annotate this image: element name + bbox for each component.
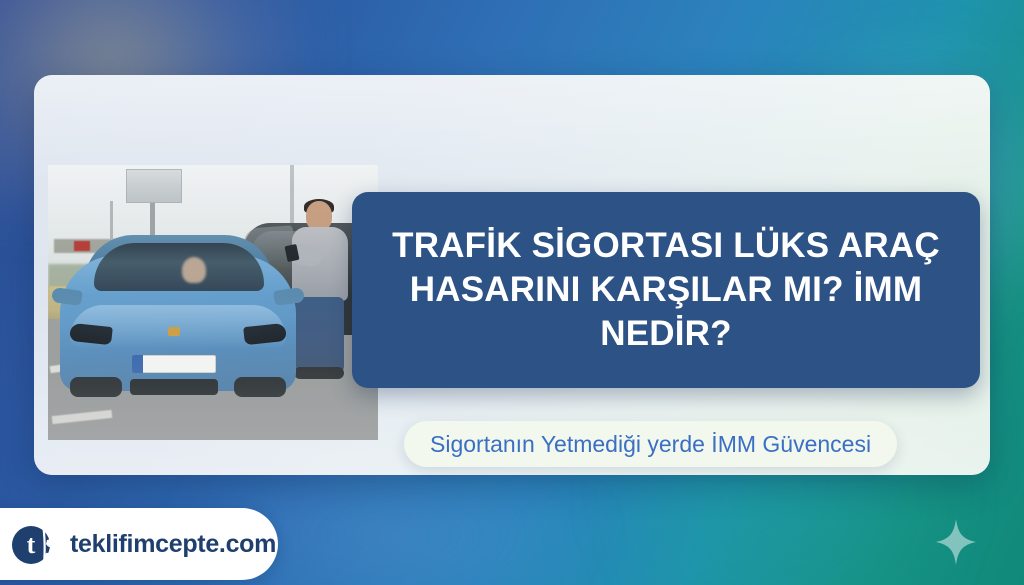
poster-canvas: Trafik Sigortası teklifimcepte sigorta	[0, 0, 1024, 585]
subtitle-badge: Sigortanın Yetmediği yerde İMM Güvencesi	[404, 421, 897, 467]
hero-photo	[48, 165, 378, 440]
headline-box: TRAFİK SİGORTASI LÜKS ARAÇ HASARINI KARŞ…	[352, 192, 980, 388]
brand-logo[interactable]: t teklifimcepte.com	[0, 508, 278, 580]
page-title: TRAFİK SİGORTASI LÜKS ARAÇ HASARINI KARŞ…	[378, 224, 954, 356]
leaf-t-logo-icon: t	[12, 521, 58, 567]
subtitle-text: Sigortanın Yetmediği yerde İMM Güvencesi	[430, 431, 871, 458]
photo-edge-fade	[48, 165, 378, 440]
leaf-icon	[34, 519, 62, 569]
logo-wordmark: teklifimcepte.com	[70, 530, 276, 559]
four-point-sparkle-icon	[936, 519, 976, 565]
